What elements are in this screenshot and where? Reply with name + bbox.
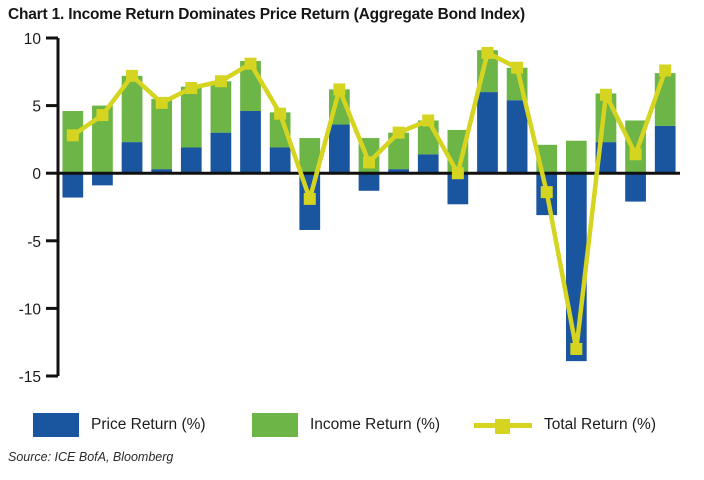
bar-price-2007 xyxy=(122,142,143,173)
legend-line-total xyxy=(474,413,532,437)
bar-price-2012 xyxy=(270,148,291,174)
total-return-marker-2014 xyxy=(333,83,345,95)
total-return-marker-2019 xyxy=(481,47,493,59)
total-return-marker-2008 xyxy=(156,97,168,109)
bar-price-2011 xyxy=(240,111,261,173)
total-return-marker-2022 xyxy=(570,343,582,355)
legend-item-total-return[interactable]: Total Return (%) xyxy=(474,412,656,438)
legend-label-total: Total Return (%) xyxy=(544,416,656,434)
bar-price-2014 xyxy=(329,125,350,174)
bar-price-2009 xyxy=(181,148,202,174)
bar-income-2025 xyxy=(655,73,676,126)
total-return-marker-2005 xyxy=(67,129,79,141)
bar-price-2006 xyxy=(92,173,113,185)
bars-income-return xyxy=(62,50,675,173)
legend-swatch-income xyxy=(252,413,298,437)
bar-price-2024 xyxy=(625,173,646,201)
legend-item-income-return[interactable]: Income Return (%) xyxy=(252,412,440,438)
y-tick-label-10: 10 xyxy=(24,31,42,48)
bar-income-2022 xyxy=(566,141,587,173)
total-return-marker-2018 xyxy=(452,167,464,179)
bar-price-2017 xyxy=(418,154,439,173)
bar-price-2025 xyxy=(655,126,676,173)
total-return-marker-2012 xyxy=(274,108,286,120)
y-axis-ticks: 1050-5-10-15 xyxy=(19,31,58,385)
bar-price-2010 xyxy=(211,133,232,174)
chart-card: Chart 1. Income Return Dominates Price R… xyxy=(0,0,704,480)
legend-label-income: Income Return (%) xyxy=(310,416,440,434)
plot-area: 1050-5-10-15 20052010201520202025 xyxy=(0,30,704,385)
bar-price-2020 xyxy=(507,100,528,173)
total-return-marker-2010 xyxy=(215,75,227,87)
legend-item-price-return[interactable]: Price Return (%) xyxy=(33,412,206,438)
y-tick-label-5: 5 xyxy=(32,99,41,116)
bar-income-2009 xyxy=(181,87,202,148)
total-return-marker-2009 xyxy=(185,82,197,94)
chart-legend: Price Return (%) Income Return (%) Total… xyxy=(0,410,704,446)
legend-line-marker xyxy=(495,419,510,434)
chart-title: Chart 1. Income Return Dominates Price R… xyxy=(8,6,525,24)
legend-swatch-price xyxy=(33,413,79,437)
axis-group xyxy=(58,38,680,376)
total-return-marker-2020 xyxy=(511,62,523,74)
total-return-marker-2011 xyxy=(245,58,257,70)
chart-svg: 1050-5-10-15 20052010201520202025 xyxy=(0,30,704,385)
bar-price-2005 xyxy=(62,173,83,197)
total-return-marker-2015 xyxy=(363,156,375,168)
y-tick-label--5: -5 xyxy=(27,234,41,251)
bar-income-2010 xyxy=(211,81,232,132)
total-return-marker-2025 xyxy=(659,64,671,76)
total-return-marker-2007 xyxy=(126,70,138,82)
total-return-marker-2006 xyxy=(96,109,108,121)
bar-price-2015 xyxy=(359,173,380,191)
total-return-marker-2017 xyxy=(422,114,434,126)
bar-price-2019 xyxy=(477,92,498,173)
y-tick-label-0: 0 xyxy=(32,166,41,183)
legend-label-price: Price Return (%) xyxy=(91,416,206,434)
total-return-marker-2024 xyxy=(630,148,642,160)
y-tick-label--10: -10 xyxy=(19,301,42,318)
total-return-marker-2023 xyxy=(600,89,612,101)
total-return-marker-2021 xyxy=(541,186,553,198)
y-tick-label--15: -15 xyxy=(19,369,41,385)
total-return-marker-2016 xyxy=(393,127,405,139)
bar-income-2005 xyxy=(62,111,83,173)
bar-income-2008 xyxy=(151,99,172,169)
total-return-marker-2013 xyxy=(304,193,316,205)
source-note: Source: ICE BofA, Bloomberg xyxy=(8,450,173,464)
